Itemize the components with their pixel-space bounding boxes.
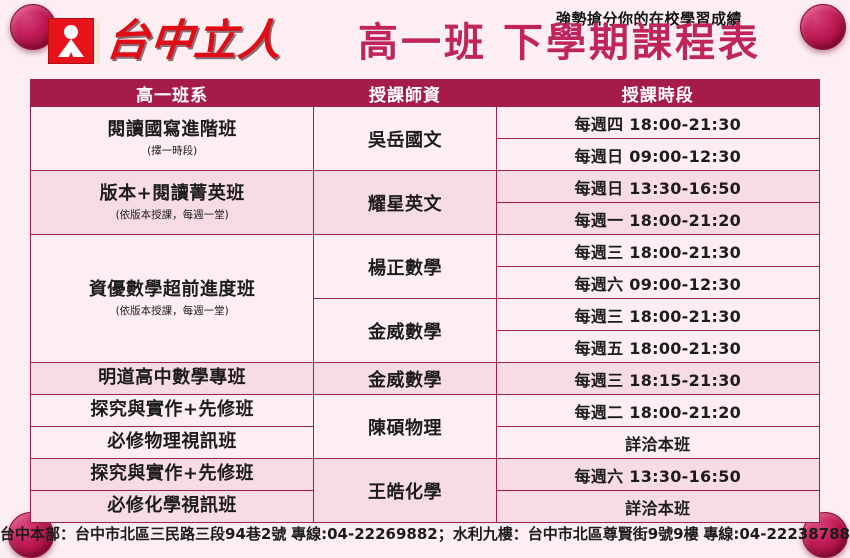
column-header-time: 授課時段: [496, 80, 819, 107]
time-cell: 每週四 18:00-21:30: [496, 107, 819, 139]
class-cell: 必修化學視訊班: [31, 491, 314, 523]
class-note: (依版本授課，每週一堂): [31, 303, 313, 318]
title-grade: 高一班: [358, 20, 487, 66]
person-logo-icon: [48, 18, 94, 64]
class-cell: 探究與實作+先修班: [31, 395, 314, 427]
time-cell: 詳洽本班: [496, 427, 819, 459]
page-title: 高一班下學期課程表: [358, 22, 808, 64]
class-name: 必修化學視訊班: [31, 495, 313, 518]
table-header-row: 高一班系 授課師資 授課時段: [31, 80, 820, 107]
teacher-cell: 耀星英文: [314, 171, 496, 235]
logo-leg-split-shape: [66, 52, 76, 63]
brand-logo: 台中立人: [48, 18, 282, 64]
class-name: 閱讀國寫進階班: [31, 119, 313, 142]
class-cell: 版本+閱讀菁英班 (依版本授課，每週一堂): [31, 171, 314, 235]
class-name: 版本+閱讀菁英班: [31, 183, 313, 206]
time-cell: 每週日 09:00-12:30: [496, 139, 819, 171]
teacher-cell: 金威數學: [314, 299, 496, 363]
logo-head-shape: [64, 25, 78, 39]
table-body: 閱讀國寫進階班 (擇一時段) 吳岳國文 每週四 18:00-21:30 每週日 …: [31, 107, 820, 523]
class-cell: 探究與實作+先修班: [31, 459, 314, 491]
footer-contact-bar: 台中本部：台中市北區三民路三段94巷2號專線:04-22269882；水利九樓：…: [0, 519, 850, 547]
teacher-cell: 楊正數學: [314, 235, 496, 299]
branch2-address: 水利九樓：台中市北區尊賢街9號9樓: [453, 523, 699, 544]
table-row: 閱讀國寫進階班 (擇一時段) 吳岳國文 每週四 18:00-21:30: [31, 107, 820, 139]
time-cell: 每週三 18:15-21:30: [496, 363, 819, 395]
time-cell: 每週六 09:00-12:30: [496, 267, 819, 299]
class-name: 明道高中數學專班: [31, 367, 313, 390]
table-row: 版本+閱讀菁英班 (依版本授課，每週一堂) 耀星英文 每週日 13:30-16:…: [31, 171, 820, 203]
class-name: 探究與實作+先修班: [31, 463, 313, 486]
time-cell: 每週五 18:00-21:30: [496, 331, 819, 363]
time-cell: 每週三 18:00-21:30: [496, 299, 819, 331]
class-name: 必修物理視訊班: [31, 431, 313, 454]
time-cell: 每週二 18:00-21:20: [496, 395, 819, 427]
teacher-cell: 吳岳國文: [314, 107, 496, 171]
branch2-phone: 專線:04-22238788: [703, 523, 850, 544]
table-row: 探究與實作+先修班 王皓化學 每週六 13:30-16:50: [31, 459, 820, 491]
table-row: 明道高中數學專班 金威數學 每週三 18:15-21:30: [31, 363, 820, 395]
course-schedule-table: 高一班系 授課師資 授課時段 閱讀國寫進階班 (擇一時段) 吳岳國文 每週四 1…: [30, 79, 820, 523]
teacher-cell: 陳碩物理: [314, 395, 496, 459]
teacher-cell: 金威數學: [314, 363, 496, 395]
time-cell: 每週三 18:00-21:30: [496, 235, 819, 267]
time-cell: 每週一 18:00-21:20: [496, 203, 819, 235]
class-cell: 閱讀國寫進階班 (擇一時段): [31, 107, 314, 171]
poster-root: 台中立人 強勢搶分你的在校學習成績 高一班下學期課程表 高一班系 授課師資 授課…: [0, 0, 850, 550]
class-name: 資優數學超前進度班: [31, 279, 313, 302]
brand-name: 台中立人: [104, 20, 285, 63]
footer-separator: ；: [438, 523, 453, 544]
class-cell: 資優數學超前進度班 (依版本授課，每週一堂): [31, 235, 314, 363]
column-header-class: 高一班系: [31, 80, 314, 107]
class-cell: 明道高中數學專班: [31, 363, 314, 395]
title-term: 下學期課程表: [503, 20, 761, 66]
table-row: 資優數學超前進度班 (依版本授課，每週一堂) 楊正數學 每週三 18:00-21…: [31, 235, 820, 267]
branch1-address: 台中本部：台中市北區三民路三段94巷2號: [0, 523, 286, 544]
branch1-phone: 專線:04-22269882: [291, 523, 438, 544]
table-row: 探究與實作+先修班 陳碩物理 每週二 18:00-21:20: [31, 395, 820, 427]
class-cell: 必修物理視訊班: [31, 427, 314, 459]
teacher-cell: 王皓化學: [314, 459, 496, 523]
poster-header: 台中立人 強勢搶分你的在校學習成績 高一班下學期課程表: [0, 0, 850, 80]
class-note: (擇一時段): [31, 143, 313, 158]
class-name: 探究與實作+先修班: [31, 399, 313, 422]
table-head: 高一班系 授課師資 授課時段: [31, 80, 820, 107]
class-note: (依版本授課，每週一堂): [31, 207, 313, 222]
column-header-teacher: 授課師資: [314, 80, 496, 107]
time-cell: 每週六 13:30-16:50: [496, 459, 819, 491]
time-cell: 詳洽本班: [496, 491, 819, 523]
time-cell: 每週日 13:30-16:50: [496, 171, 819, 203]
